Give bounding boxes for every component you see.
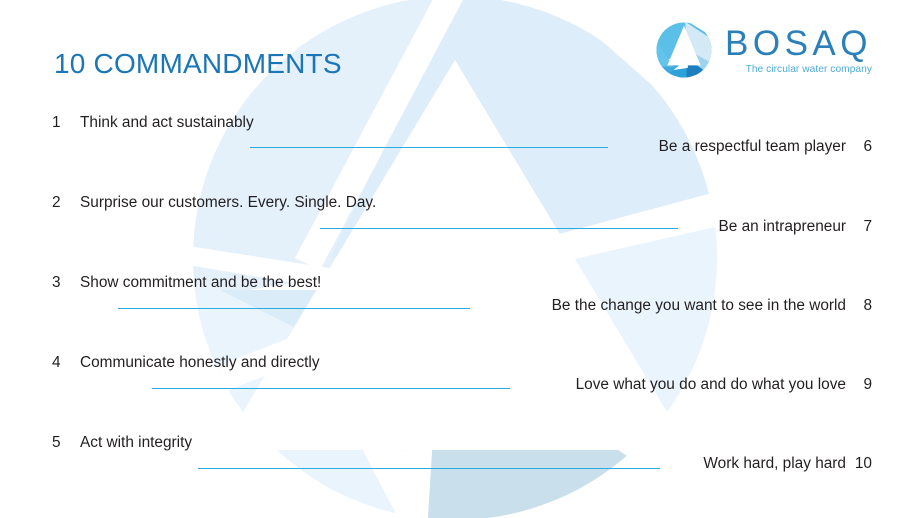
commandment-left-3: 3 Show commitment and be the best! <box>52 274 321 292</box>
commandment-text: Love what you do and do what you love <box>576 376 846 394</box>
commandment-number: 5 <box>52 434 80 452</box>
commandment-text: Surprise our customers. Every. Single. D… <box>80 194 376 212</box>
commandment-left-1: 1 Think and act sustainably <box>52 114 254 132</box>
commandment-left-5: 5 Act with integrity <box>52 434 192 452</box>
commandment-number: 1 <box>52 114 80 132</box>
commandment-right-6: Be a respectful team player 6 <box>659 138 872 156</box>
commandment-text: Be an intrapreneur <box>719 218 846 236</box>
connector-line <box>198 468 660 469</box>
commandment-number: 3 <box>52 274 80 292</box>
commandment-text: Be a respectful team player <box>659 138 846 156</box>
logo-tagline: The circular water company <box>725 64 872 75</box>
commandment-number: 9 <box>846 376 872 394</box>
aperture-iris-waterdrop-icon <box>652 18 716 82</box>
commandment-text: Work hard, play hard <box>703 455 846 473</box>
connector-line <box>152 388 510 389</box>
commandment-text: Think and act sustainably <box>80 114 254 132</box>
logo-wordmark: BOSAQ <box>725 27 872 61</box>
logo-text: BOSAQ The circular water company <box>725 25 872 74</box>
commandment-number: 7 <box>846 218 872 236</box>
commandment-number: 6 <box>846 138 872 156</box>
commandment-right-9: Love what you do and do what you love 9 <box>576 376 872 394</box>
commandment-right-10: Work hard, play hard 10 <box>703 455 872 473</box>
page-title: 10 COMMANDMENTS <box>54 48 342 80</box>
commandment-number: 2 <box>52 194 80 212</box>
bosaq-logo: BOSAQ The circular water company <box>652 18 872 82</box>
commandment-left-2: 2 Surprise our customers. Every. Single.… <box>52 194 376 212</box>
commandment-right-8: Be the change you want to see in the wor… <box>552 297 872 315</box>
commandment-text: Act with integrity <box>80 434 192 452</box>
commandment-number: 8 <box>846 297 872 315</box>
commandment-number: 4 <box>52 354 80 372</box>
connector-line <box>118 308 470 309</box>
commandment-number: 10 <box>846 455 872 473</box>
slide-canvas: 10 COMMANDMENTS BOSAQ <box>0 0 920 518</box>
commandment-text: Show commitment and be the best! <box>80 274 321 292</box>
connector-line <box>320 228 678 229</box>
commandment-text: Be the change you want to see in the wor… <box>552 297 846 315</box>
connector-line <box>250 147 608 148</box>
commandment-right-7: Be an intrapreneur 7 <box>719 218 872 236</box>
commandment-left-4: 4 Communicate honestly and directly <box>52 354 320 372</box>
commandment-text: Communicate honestly and directly <box>80 354 320 372</box>
